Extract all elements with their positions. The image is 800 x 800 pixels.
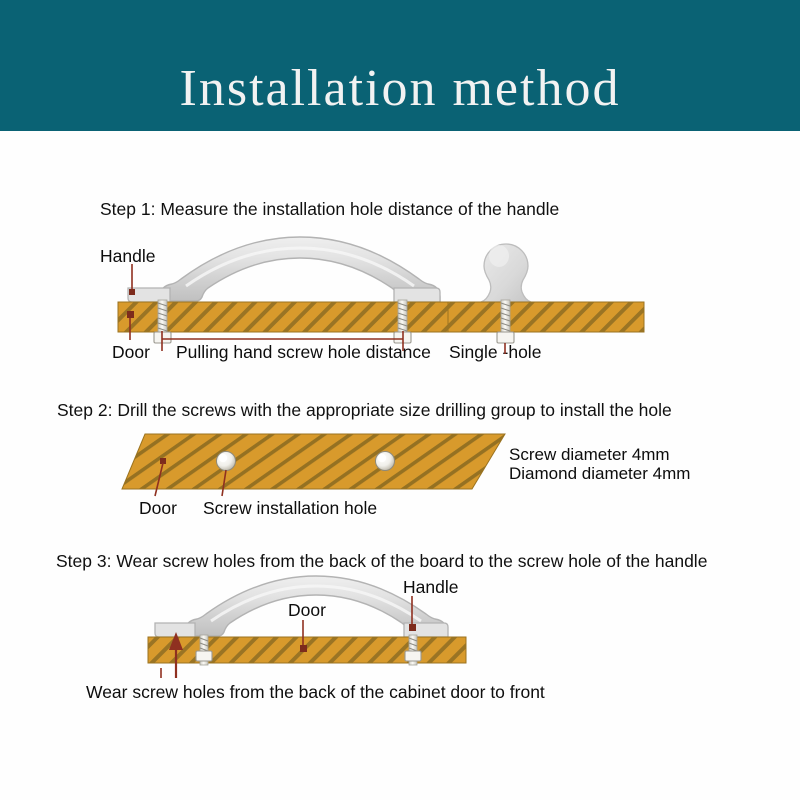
step-3-instruction: Step 3: Wear screw holes from the back o… (56, 551, 707, 572)
step-3-screw-left (196, 635, 212, 665)
step-1-distance-label: Pulling hand screw hole distance (176, 342, 431, 363)
page-title: Installation method (0, 0, 800, 131)
single-hole-knob-graphic (481, 244, 531, 302)
step-2-door-label: Door (139, 498, 177, 519)
bow-handle-graphic (126, 236, 440, 302)
handle-arch (160, 237, 440, 301)
step-2-spec-diamond-diameter: Diamond diameter 4mm (509, 464, 690, 484)
step-1-single-hole-label: Single -hole (449, 342, 541, 363)
step-1-single-hole-board (448, 302, 644, 332)
step-3-screw-right (405, 635, 421, 665)
step-3-caption: Wear screw holes from the back of the ca… (86, 682, 545, 703)
step-3-door-leader (300, 620, 307, 652)
step-3-handle-label: Handle (403, 577, 458, 598)
step-1-screw-single (497, 300, 514, 343)
step-1-screw-right (394, 300, 411, 343)
step-2-screw-hole-leader (222, 470, 226, 496)
step-2-door-leader (155, 458, 166, 496)
step-1-diagram (118, 236, 644, 354)
step-1-handle-label: Handle (100, 246, 155, 267)
step-1-instruction: Step 1: Measure the installation hole di… (100, 199, 559, 220)
step-2-spec-screw-diameter: Screw diameter 4mm (509, 445, 670, 465)
step-1-screw-left (154, 300, 171, 343)
step-2-door-board (122, 434, 505, 489)
step-2-instruction: Step 2: Drill the screws with the approp… (57, 400, 672, 421)
step-2-diagram (122, 434, 505, 496)
handle-right-foot (394, 288, 440, 302)
step-3-door-label: Door (288, 600, 326, 621)
step-3-door-board (148, 637, 466, 663)
step-1-door-label: Door (112, 342, 150, 363)
step-3-insert-arrow (169, 632, 183, 678)
step-2-screw-hole-label: Screw installation hole (203, 498, 377, 519)
step-1-handle-leader (129, 264, 135, 295)
step-2-screw-hole-2 (376, 452, 395, 471)
knob-body (481, 244, 531, 302)
handle-left-foot (128, 288, 170, 302)
step-1-door-board (118, 302, 486, 332)
step-3-handle-right-foot (404, 623, 448, 637)
step-3-handle-left-foot (155, 623, 195, 637)
step-3-handle-leader (409, 596, 416, 631)
step-1-door-leader (127, 311, 134, 340)
step-2-screw-hole-1 (217, 452, 236, 471)
installation-instruction-page: Installation method Step 1: Measure the … (0, 0, 800, 800)
